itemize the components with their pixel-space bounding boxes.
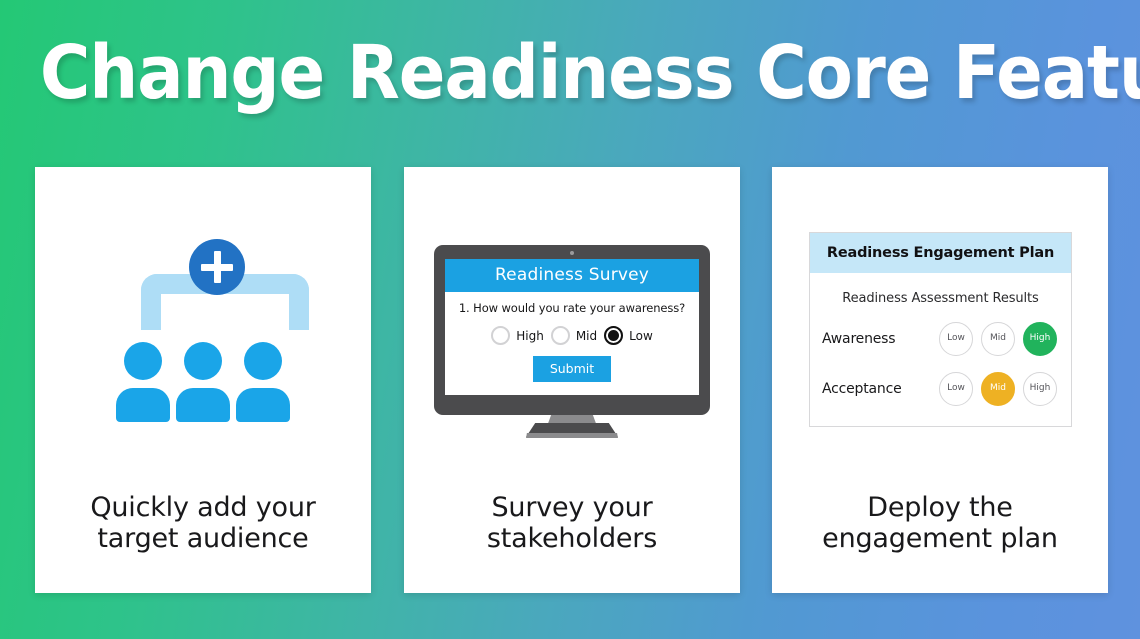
slide-canvas: Change Readiness Core Features xyxy=(0,0,1140,639)
option-label: Mid xyxy=(576,329,597,343)
caption-line: stakeholders xyxy=(414,523,730,554)
survey-question: 1. How would you rate your awareness? xyxy=(445,301,699,315)
rating-chip-high-selected[interactable]: High xyxy=(1023,322,1057,356)
person-head xyxy=(184,342,222,380)
caption-line: target audience xyxy=(45,523,361,554)
person-icon xyxy=(116,342,170,424)
rating-chip-mid-selected[interactable]: Mid xyxy=(981,372,1015,406)
person-head xyxy=(244,342,282,380)
submit-row: Submit xyxy=(445,356,699,382)
caption-line: Deploy the xyxy=(782,492,1098,523)
plan-panel-title: Readiness Engagement Plan xyxy=(810,233,1071,273)
card-caption: Deploy the engagement plan xyxy=(782,492,1098,554)
card-artwork-plan: Readiness Engagement Plan Readiness Asse… xyxy=(772,167,1108,487)
plan-row-label: Awareness xyxy=(822,331,939,347)
plan-panel-subtitle: Readiness Assessment Results xyxy=(810,291,1071,306)
person-head xyxy=(124,342,162,380)
survey-option-mid[interactable]: Mid xyxy=(551,326,597,345)
card-caption: Quickly add your target audience xyxy=(45,492,361,554)
monitor-screen: Readiness Survey 1. How would you rate y… xyxy=(445,259,699,395)
survey-option-low[interactable]: Low xyxy=(604,326,653,345)
card-artwork-audience xyxy=(35,167,371,487)
caption-line: engagement plan xyxy=(782,523,1098,554)
feature-card-deploy-plan[interactable]: Readiness Engagement Plan Readiness Asse… xyxy=(772,167,1108,593)
rating-chip-group: Low Mid High xyxy=(939,322,1057,356)
plan-row-awareness: Awareness Low Mid High xyxy=(810,322,1071,356)
monitor-illustration: Readiness Survey 1. How would you rate y… xyxy=(434,245,710,435)
page-title: Change Readiness Core Features xyxy=(40,27,1100,119)
plus-badge-icon xyxy=(189,239,245,295)
person-body xyxy=(176,388,230,422)
person-icon xyxy=(236,342,290,424)
radio-icon-selected[interactable] xyxy=(604,326,623,345)
monitor-bezel: Readiness Survey 1. How would you rate y… xyxy=(434,245,710,415)
option-label: High xyxy=(516,329,544,343)
monitor-stand-base-lip xyxy=(526,433,618,438)
person-body xyxy=(236,388,290,422)
radio-icon[interactable] xyxy=(491,326,510,345)
caption-line: Quickly add your xyxy=(45,492,361,523)
person-icon xyxy=(176,342,230,424)
rating-chip-low[interactable]: Low xyxy=(939,322,973,356)
rating-chip-high[interactable]: High xyxy=(1023,372,1057,406)
engagement-plan-panel: Readiness Engagement Plan Readiness Asse… xyxy=(809,232,1072,427)
webcam-icon xyxy=(570,251,574,255)
survey-options: High Mid Low xyxy=(445,326,699,345)
survey-title: Readiness Survey xyxy=(445,259,699,292)
rating-chip-group: Low Mid High xyxy=(939,372,1057,406)
card-caption: Survey your stakeholders xyxy=(414,492,730,554)
audience-icon xyxy=(113,232,293,427)
feature-card-add-audience[interactable]: Quickly add your target audience xyxy=(35,167,371,593)
option-label: Low xyxy=(629,329,653,343)
rating-chip-low[interactable]: Low xyxy=(939,372,973,406)
person-body xyxy=(116,388,170,422)
plan-row-acceptance: Acceptance Low Mid High xyxy=(810,372,1071,406)
caption-line: Survey your xyxy=(414,492,730,523)
submit-button[interactable]: Submit xyxy=(533,356,611,382)
radio-icon[interactable] xyxy=(551,326,570,345)
survey-option-high[interactable]: High xyxy=(491,326,544,345)
rating-chip-mid[interactable]: Mid xyxy=(981,322,1015,356)
plan-row-label: Acceptance xyxy=(822,381,939,397)
feature-card-survey[interactable]: Readiness Survey 1. How would you rate y… xyxy=(404,167,740,593)
card-artwork-monitor: Readiness Survey 1. How would you rate y… xyxy=(404,167,740,487)
